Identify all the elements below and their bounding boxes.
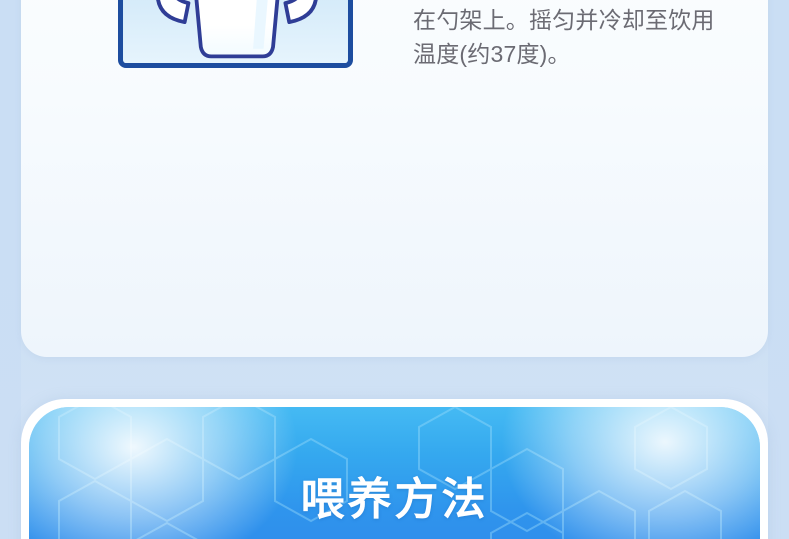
feeding-method-title: 喂养方法 (29, 463, 760, 527)
product-detail-page: 干粉冲泡。 (0, 0, 789, 539)
scoop-and-cup-icon (123, 0, 348, 63)
feeding-method-banner: 喂养方法 (29, 407, 760, 539)
step3-text-column: STEP 3 用随附的量匙将所需奶粉用量倒入杯子中。将量匙妥善放置在勺架上。摇匀… (413, 0, 753, 71)
step3-illustration (118, 0, 353, 68)
instruction-card: 干粉冲泡。 (21, 0, 768, 357)
step3-block: STEP 3 用随附的量匙将所需奶粉用量倒入杯子中。将量匙妥善放置在勺架上。摇匀… (21, 0, 789, 100)
page-left-rail (0, 0, 21, 539)
feeding-method-banner-frame: 喂养方法 (21, 399, 768, 539)
step3-description: 用随附的量匙将所需奶粉用量倒入杯子中。将量匙妥善放置在勺架上。摇匀并冷却至饮用温… (413, 0, 735, 71)
